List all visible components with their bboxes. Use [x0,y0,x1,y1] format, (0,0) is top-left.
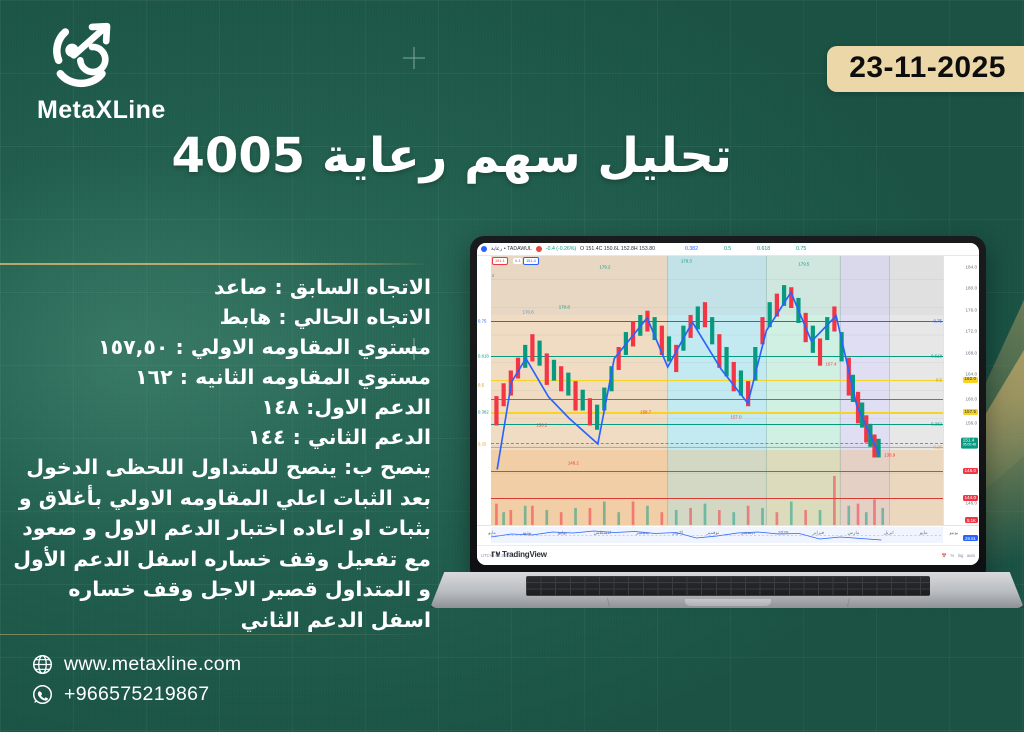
laptop-lid: رعاية • TADAWUL -0.4 (-0.26%) O 151.4C 1… [470,236,986,575]
chart-change-label: -0.4 (-0.26%) [546,246,576,252]
x-tick-4: سبتمبر [636,530,649,536]
brand-logo: MetaXLine [31,22,191,125]
zigzag-indicator [497,292,879,469]
fib-left-025: 0.25 [478,442,486,447]
tradingview-chart[interactable]: رعاية • TADAWUL -0.4 (-0.26%) O 151.4C 1… [477,243,979,565]
whatsapp-icon [32,684,53,705]
analysis-line-resistance1: مستوي المقاومه الاولي : ١٥٧,٥٠ [6,332,431,362]
chart-body[interactable]: 0.75 0.618 0.5 0.382 0.25 [477,256,979,525]
fib-top-label-05: 0.5 [724,246,731,252]
chart-time-axis[interactable]: مايو يونيو يوليو اغسطس سبتمبر اكتوبر نوف… [477,525,979,545]
y-tick-146: 146.0 [966,501,978,506]
chart-symbol-label: رعاية • TADAWUL [491,246,532,252]
x-tick-3: اغسطس [594,530,612,536]
price-annotation-1674: 167.4 [825,361,836,366]
price-annotation-1482: 148.2 [568,461,579,466]
price-annotation-1570: 157.0 [731,415,742,420]
footer-contact: www.metaxline.com +966575219867 [32,653,241,713]
analysis-line-resistance2: مستوي المقاومه الثانيه : ١٦٢ [6,362,431,392]
fib-top-label-075: 0.75 [796,246,806,252]
chart-status-bar[interactable]: UTC+3 08:28:48 📅 % log auto [477,545,979,565]
y-badge-current-price: 151.405:00:48 [961,438,978,449]
y-badge-resistance-1575: 157.5 [963,409,979,415]
chart-candles [491,256,943,525]
growth-arrow-circle-icon [39,22,125,92]
price-annotation-1562: 156.2 [536,423,547,428]
price-annotation-1708b: 170.8 [559,305,570,310]
y-tick-176: 176.0 [966,307,978,312]
decorative-plus-icon [403,47,425,69]
divider-top [0,263,427,265]
price-annotation-1792: 179.2 [599,264,610,269]
chart-header-bar[interactable]: رعاية • TADAWUL -0.4 (-0.26%) O 151.4C 1… [477,243,979,256]
fib-left-05: 0.5 [478,383,484,388]
y-tick-156: 156.0 [966,420,978,425]
y-tick-180: 180.0 [966,286,978,291]
price-annotation-1795: 179.5 [798,262,809,267]
x-tick-6: نوفمبر [707,530,720,536]
footer-phone-row[interactable]: +966575219867 [32,683,241,706]
y-badge-resistance-162: 162.0 [963,377,979,383]
x-tick-8: 2025 [778,530,788,535]
alert-icon[interactable] [536,246,542,252]
volume-bars [495,476,884,525]
x-tick-5: اكتوبر [672,530,683,536]
x-tick-0: مايو [488,530,496,536]
y-badge-support-148: 148.0 [963,468,979,474]
fib-right-075: 0.75 [933,318,942,323]
chart-left-fib-axis: 0.75 0.618 0.5 0.382 0.25 [477,256,491,525]
laptop-mockup: رعاية • TADAWUL -0.4 (-0.26%) O 151.4C 1… [430,236,1024,636]
overlay-badge-03: 0.3 [513,258,522,264]
laptop-trackpad [685,599,771,606]
page-title: تحليل سهم رعاية 4005 [172,128,732,184]
price-annotation-1793: 179.3 [681,259,692,264]
x-tick-2: يوليو [558,530,567,536]
fib-top-label-0618: 0.618 [757,246,770,252]
fib-right-0618: 0.618 [931,353,942,358]
price-annotation-1708a: 170.8 [523,310,534,315]
y-tick-160: 160.0 [966,396,978,401]
overlay-badge-1511[interactable]: 151.1 [492,257,508,265]
x-tick-12: مايو [920,530,928,536]
x-tick-9: فبراير [813,530,824,536]
laptop-screen: رعاية • TADAWUL -0.4 (-0.26%) O 151.4C 1… [477,243,979,565]
x-tick-7: ديسمبر [741,530,755,536]
analysis-block: الاتجاه السابق : صاعد الاتجاه الحالي : ه… [6,272,431,635]
y-tick-184: 184.0 [966,264,978,269]
price-annotation-1587: 158.7 [640,410,651,415]
date-badge: 23-11-2025 [827,46,1024,92]
chart-scale-label: 2 [492,273,494,278]
fib-right-025: 0.25 [933,444,942,449]
chart-ohlc-label: O 151.4C 150.6L 152.8H 153.80 [580,246,655,252]
fib-left-0382: 0.382 [478,410,489,415]
chart-toolbar-right[interactable]: 📅 % log auto [942,553,975,559]
analysis-line-support2: الدعم الثاني : ١٤٤ [6,422,431,452]
fib-left-075: 0.75 [478,318,486,323]
analysis-line-prev-trend: الاتجاه السابق : صاعد [6,272,431,302]
y-tick-172: 172.0 [966,329,978,334]
analysis-line-support1: الدعم الاول: ١٤٨ [6,392,431,422]
chart-timezone-label: UTC+3 08:28:48 [481,553,512,558]
analysis-recommendation: ينصح ب: ينصح للمتداول اللحظى الدخول بعد … [6,452,431,635]
price-annotation-1389: 138.9 [884,453,895,458]
volume-badge: 5.1K [965,517,978,523]
chart-price-axis[interactable]: 184.0 180.0 176.0 172.0 168.0 164.0 160.… [943,256,979,525]
analysis-line-curr-trend: الاتجاه الحالي : هابط [6,302,431,332]
y-badge-support-144: 144.0 [963,495,979,501]
brand-name: MetaXLine [37,96,191,125]
footer-website-text: www.metaxline.com [64,653,241,676]
x-tick-10: مارس [848,530,860,536]
symbol-dot-icon [481,246,487,252]
globe-icon [32,654,53,675]
fib-right-0382: 0.382 [931,422,942,427]
chart-plot-area[interactable]: 179.2 179.3 179.5 170.8 170.8 167.4 156.… [491,256,943,525]
fib-top-label-0382: 0.382 [685,246,698,252]
footer-website-row[interactable]: www.metaxline.com [32,653,241,676]
x-tick-13: يونيو [949,530,958,536]
y-tick-168: 168.0 [966,350,978,355]
fib-right-05: 0.5 [936,377,942,382]
footer-phone-text: +966575219867 [64,683,209,706]
fib-left-0618: 0.618 [478,353,489,358]
x-tick-1: يونيو [523,530,532,536]
x-tick-11: ابريل [884,530,894,536]
overlay-badge-1514[interactable]: 151.4 [523,257,539,265]
laptop-keyboard [526,576,930,596]
